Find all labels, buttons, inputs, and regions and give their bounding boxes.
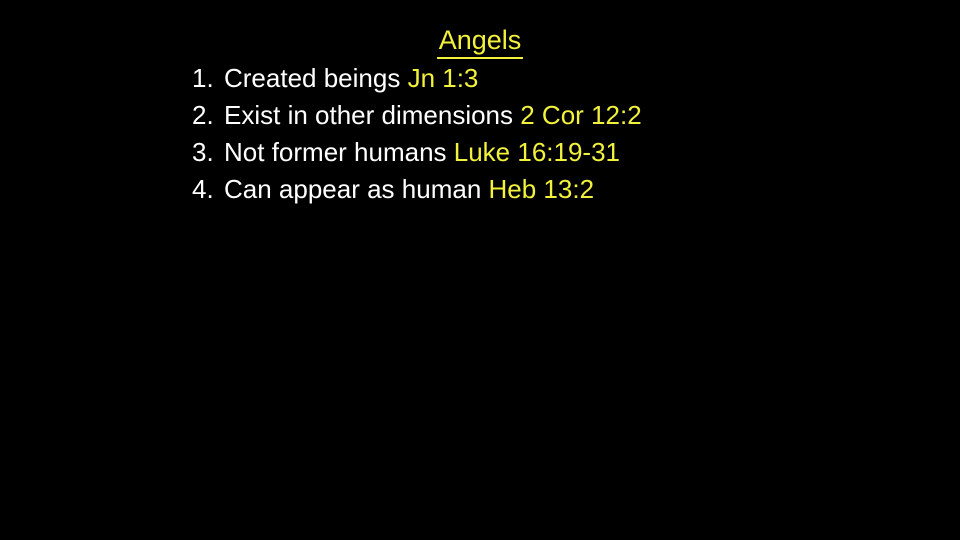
list-item: 3.Not former humans Luke 16:19-31 xyxy=(192,135,642,172)
list-item-number: 3. xyxy=(192,135,224,169)
list-item-text: Exist in other dimensions xyxy=(224,100,520,130)
list-item-text: Can appear as human xyxy=(224,174,489,204)
page-title-text: Angels xyxy=(437,24,524,59)
list-item: 1.Created beings Jn 1:3 xyxy=(192,61,642,98)
list-item: 4.Can appear as human Heb 13:2 xyxy=(192,172,642,209)
scripture-reference: Jn 1:3 xyxy=(408,63,479,93)
numbered-list: 1.Created beings Jn 1:3 2.Exist in other… xyxy=(192,61,642,209)
page-title: Angels xyxy=(0,24,960,59)
list-item: 2.Exist in other dimensions 2 Cor 12:2 xyxy=(192,98,642,135)
list-item-text: former humans xyxy=(264,137,453,167)
list-item-number: 4. xyxy=(192,172,224,206)
list-item-emphasis: Not xyxy=(224,137,264,167)
scripture-reference: Heb 13:2 xyxy=(489,174,595,204)
list-item-text: Created beings xyxy=(224,63,408,93)
list-item-number: 1. xyxy=(192,61,224,95)
presentation-slide: Angels 1.Created beings Jn 1:3 2.Exist i… xyxy=(0,0,960,540)
list-item-number: 2. xyxy=(192,98,224,132)
scripture-reference: 2 Cor 12:2 xyxy=(520,100,641,130)
scripture-reference: Luke 16:19-31 xyxy=(454,137,620,167)
